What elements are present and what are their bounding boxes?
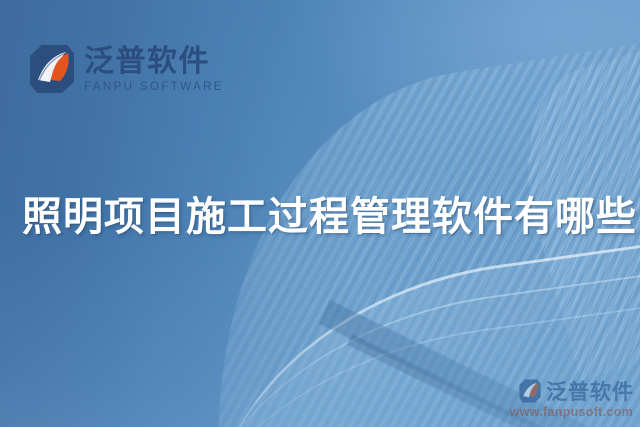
watermark-logo-row: 泛普软件 <box>519 376 634 406</box>
watermark-url: www.fanpusoft.com <box>510 405 633 419</box>
watermark-company-cn: 泛普软件 <box>546 376 634 406</box>
promo-banner: 泛普软件 FANPU SOFTWARE 照明项目施工过程管理软件有哪些 泛普软件… <box>0 0 640 427</box>
brand-logo: 泛普软件 FANPU SOFTWARE <box>29 44 224 95</box>
watermark: 泛普软件 www.fanpusoft.com <box>510 376 634 419</box>
banner-headline: 照明项目施工过程管理软件有哪些 <box>0 192 640 242</box>
fanpu-logo-mark-icon <box>29 44 75 94</box>
brand-name-cn: 泛普软件 <box>84 46 224 78</box>
brand-text-block: 泛普软件 FANPU SOFTWARE <box>84 44 224 95</box>
brand-name-en: FANPU SOFTWARE <box>84 81 224 95</box>
fanpu-watermark-mark-icon <box>519 379 541 403</box>
